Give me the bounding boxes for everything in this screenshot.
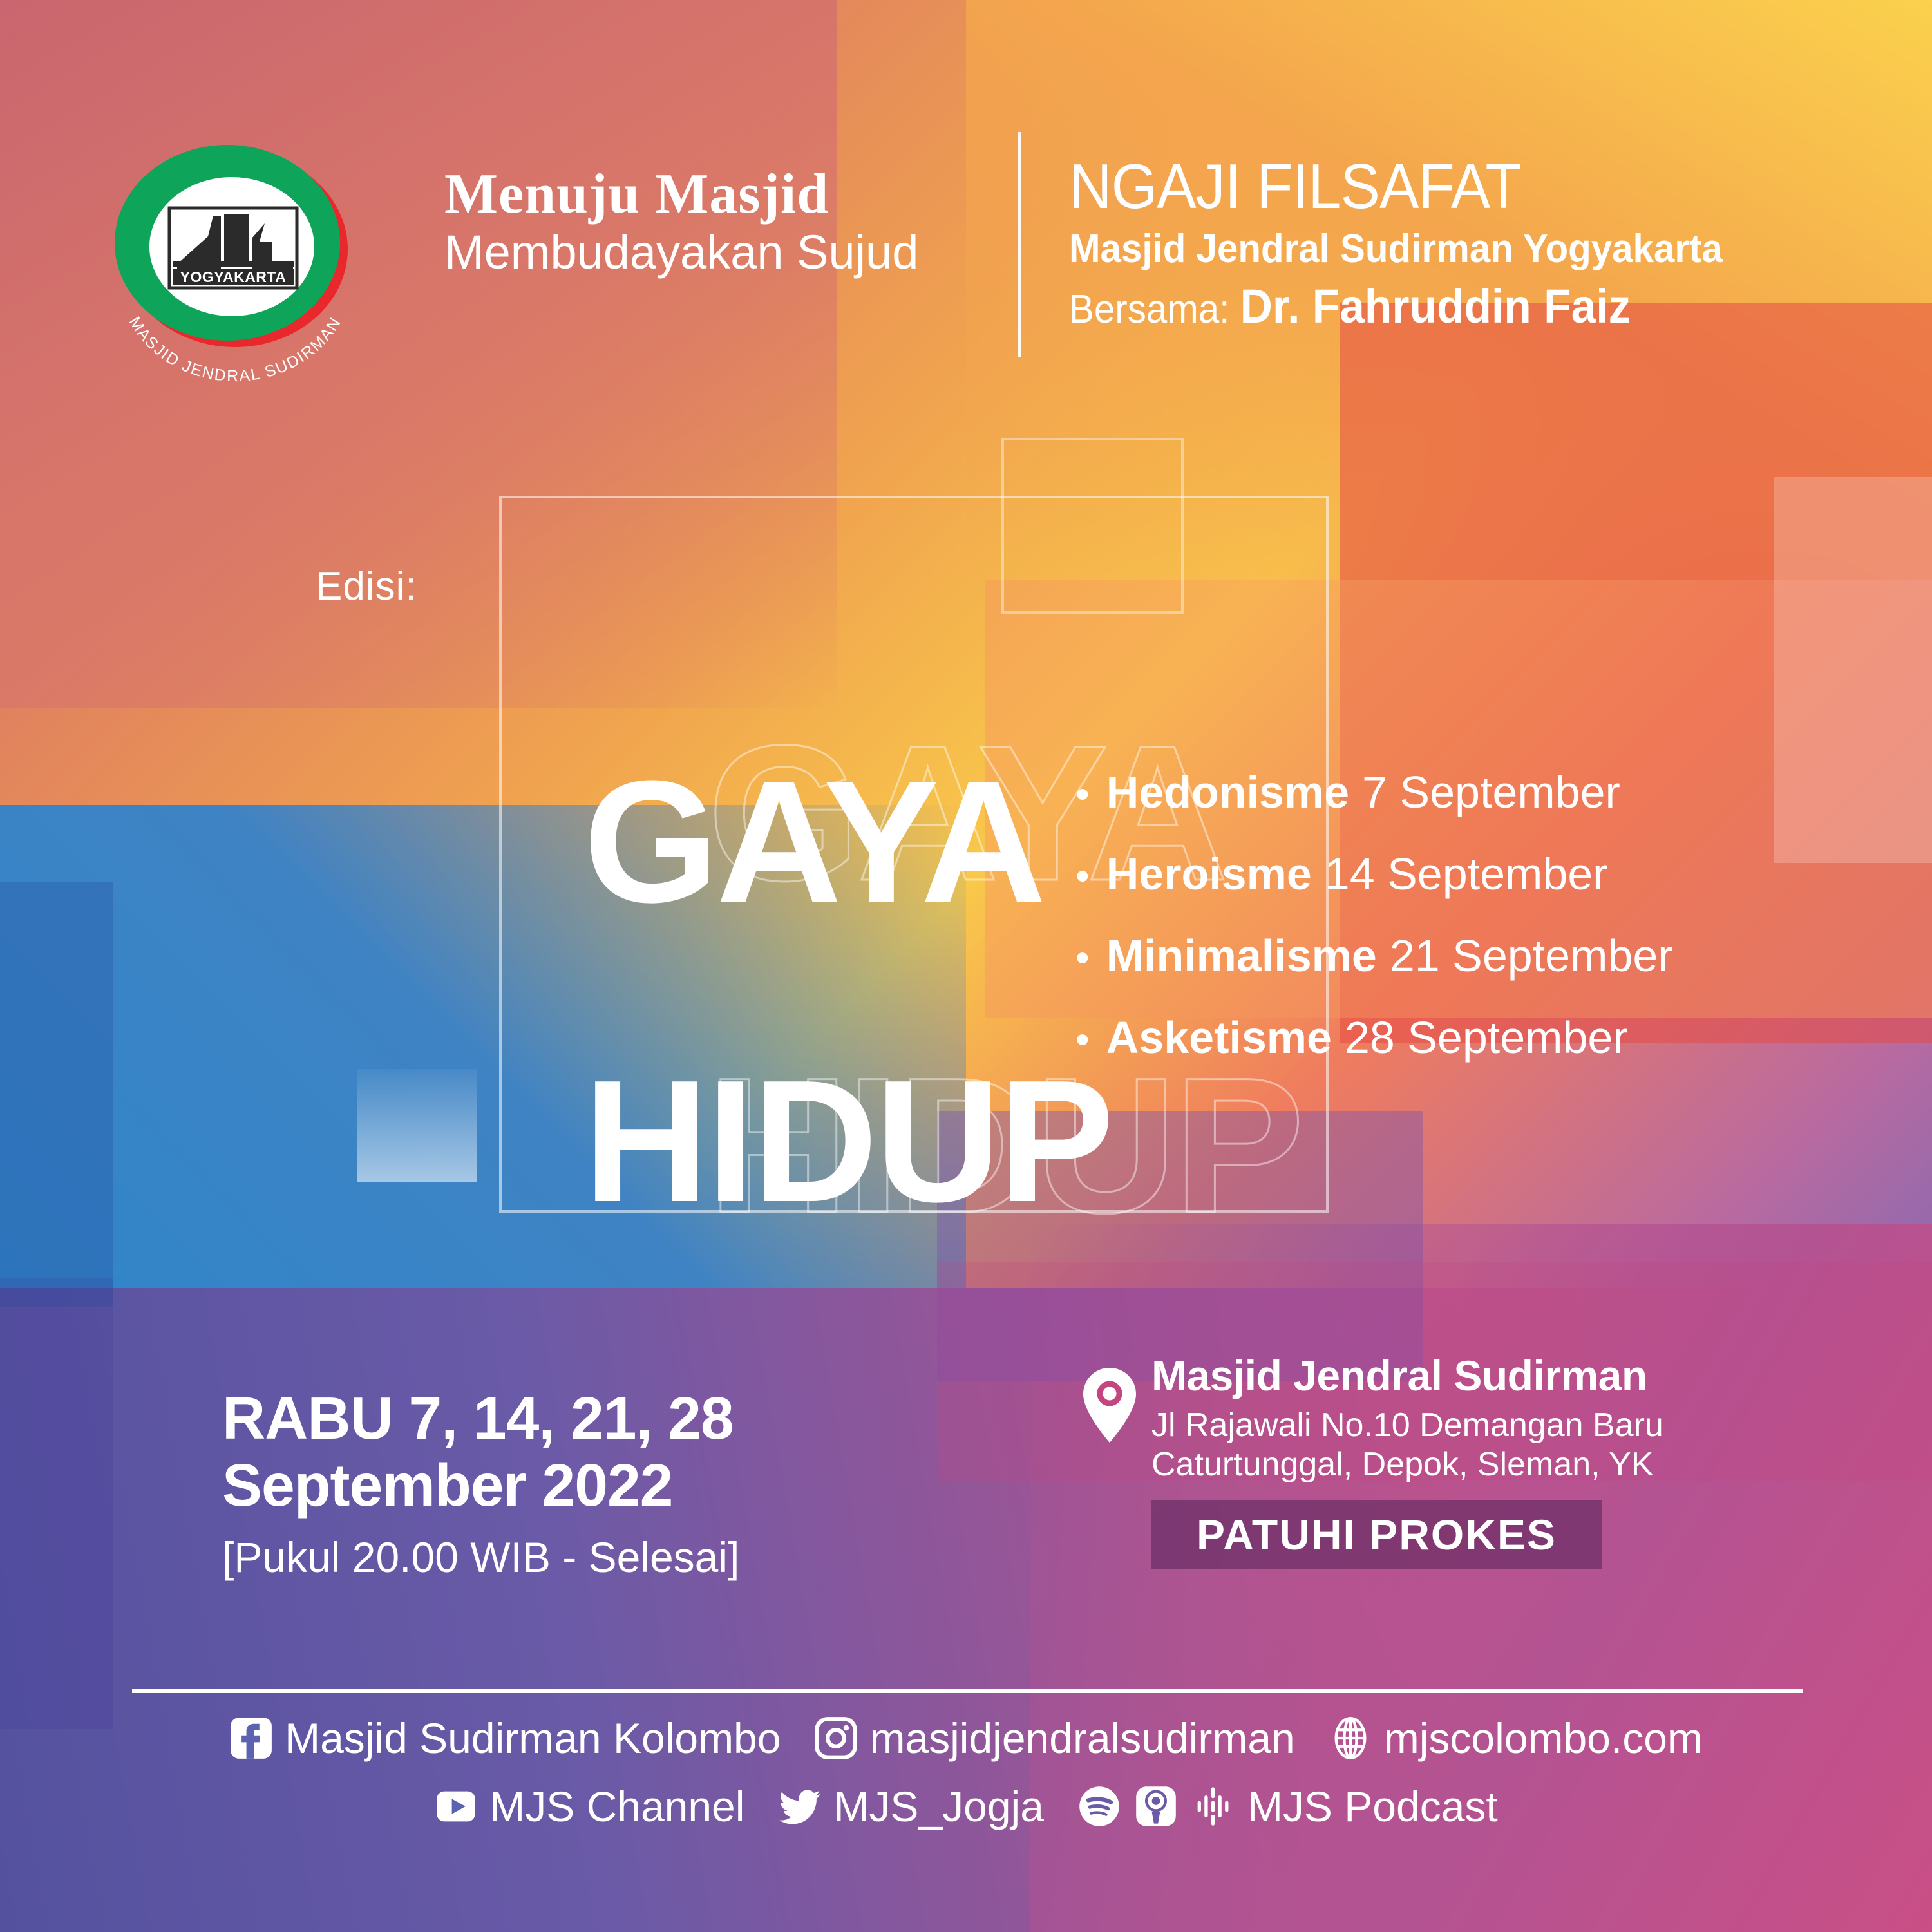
schedule-month-year: September 2022	[222, 1452, 739, 1519]
tagline-block: Menuju Masjid Membudayakan Sujud	[444, 166, 918, 278]
social-youtube[interactable]: MJS Channel	[434, 1785, 744, 1828]
twitter-icon	[778, 1785, 822, 1828]
website-label: mjscolombo.com	[1384, 1717, 1703, 1759]
background-rect-pale	[1774, 477, 1932, 863]
masjid-jendral-sudirman-logo: YOGYAKARTA MASJID JENDRAL SUDIRMAN	[100, 132, 370, 390]
topic-date: 28 September	[1345, 1012, 1628, 1063]
youtube-icon	[434, 1785, 478, 1828]
topic-name: Hedonisme	[1106, 766, 1349, 818]
instagram-icon	[814, 1716, 858, 1760]
background-rect-dark-blue	[0, 882, 113, 1307]
topic-name: Asketisme	[1106, 1012, 1332, 1063]
schedule-time: [Pukul 20.00 WIB - Selesai]	[222, 1533, 739, 1582]
main-title-line-2: HIDUP	[583, 1045, 1112, 1238]
header-divider	[1018, 132, 1021, 357]
venue-address-line-2: Caturtunggal, Depok, Sleman, YK	[1151, 1445, 1663, 1484]
background-rect-violet	[0, 1278, 113, 1729]
instagram-label: masjidjendralsudirman	[869, 1717, 1294, 1759]
bullet-icon: •	[1075, 938, 1090, 978]
speaker-line: Bersama: Dr. Fahruddin Faiz	[1069, 278, 1723, 336]
social-twitter[interactable]: MJS_Jogja	[778, 1785, 1044, 1828]
social-website[interactable]: mjscolombo.com	[1329, 1716, 1703, 1760]
tagline-line-1: Menuju Masjid	[444, 166, 918, 223]
bullet-icon: •	[1075, 1020, 1090, 1060]
program-block: NGAJI FILSAFAT Masjid Jendral Sudirman Y…	[1069, 155, 1765, 336]
venue-block: Masjid Jendral Sudirman Jl Rajawali No.1…	[1082, 1352, 1663, 1569]
program-title: NGAJI FILSAFAT	[1069, 155, 1723, 218]
program-organizer: Masjid Jendral Sudirman Yogyakarta	[1069, 225, 1723, 273]
spotify-icon	[1077, 1785, 1121, 1828]
google-podcasts-icon	[1191, 1785, 1235, 1828]
main-title-line-1: GAYA	[583, 745, 1044, 939]
schedule-dates: RABU 7, 14, 21, 28	[222, 1385, 739, 1452]
edition-label: Edisi:	[316, 563, 417, 609]
main-title: GAYA HIDUP	[309, 618, 1112, 1366]
topic-item: • Hedonisme 7 September	[1075, 766, 1673, 818]
social-instagram[interactable]: masjidjendralsudirman	[814, 1716, 1294, 1760]
schedule-block: RABU 7, 14, 21, 28 September 2022 [Pukul…	[222, 1385, 739, 1582]
bullet-icon: •	[1075, 775, 1090, 815]
topic-date: 14 September	[1325, 848, 1608, 900]
podcast-group[interactable]: MJS Podcast	[1077, 1785, 1498, 1828]
health-protocol-badge: PATUHI PROKES	[1151, 1500, 1602, 1569]
topic-item: • Asketisme 28 September	[1075, 1012, 1673, 1063]
bullet-icon: •	[1075, 857, 1090, 896]
youtube-label: MJS Channel	[489, 1785, 744, 1828]
topic-list: • Hedonisme 7 September • Heroisme 14 Se…	[1075, 766, 1673, 1094]
social-facebook[interactable]: Masjid Sudirman Kolombo	[229, 1716, 781, 1760]
topic-date: 21 September	[1390, 930, 1673, 981]
footer-divider	[132, 1689, 1803, 1693]
speaker-prefix: Bersama:	[1069, 287, 1229, 332]
twitter-label: MJS_Jogja	[833, 1785, 1044, 1828]
topic-name: Minimalisme	[1106, 930, 1377, 981]
social-footer: Masjid Sudirman Kolombo masjidjendralsud…	[0, 1716, 1932, 1828]
facebook-label: Masjid Sudirman Kolombo	[285, 1717, 781, 1759]
topic-name: Heroisme	[1106, 848, 1312, 900]
topic-item: • Heroisme 14 September	[1075, 848, 1673, 900]
poster-canvas: YOGYAKARTA MASJID JENDRAL SUDIRMAN Menuj…	[0, 0, 1932, 1932]
globe-icon	[1329, 1716, 1372, 1760]
venue-address-line-1: Jl Rajawali No.10 Demangan Baru	[1151, 1406, 1663, 1445]
venue-name: Masjid Jendral Sudirman	[1151, 1352, 1663, 1399]
topic-item: • Minimalisme 21 September	[1075, 930, 1673, 981]
speaker-name: Dr. Fahruddin Faiz	[1240, 279, 1631, 333]
apple-podcasts-icon	[1134, 1785, 1178, 1828]
facebook-icon	[229, 1716, 273, 1760]
podcast-label: MJS Podcast	[1247, 1785, 1498, 1828]
location-pin-icon	[1082, 1367, 1137, 1444]
logo-plate-text: YOGYAKARTA	[180, 269, 287, 285]
main-title-block: GAYA HIDUP GAYA HIDUP	[309, 618, 1112, 1366]
social-row-2: MJS Channel MJS_Jogja	[0, 1785, 1932, 1828]
topic-date: 7 September	[1362, 766, 1620, 818]
social-row-1: Masjid Sudirman Kolombo masjidjendralsud…	[0, 1716, 1932, 1760]
tagline-line-2: Membudayakan Sujud	[444, 227, 918, 278]
